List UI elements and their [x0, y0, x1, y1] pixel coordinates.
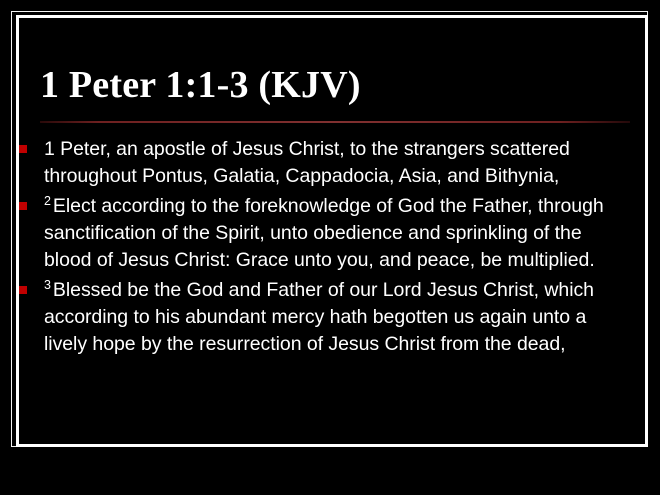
slide-frame-bottom-fade	[0, 449, 660, 495]
square-bullet-icon	[19, 145, 27, 153]
list-item: 2Elect according to the foreknowledge of…	[19, 193, 631, 274]
bullet-text: 3Blessed be the God and Father of our Lo…	[44, 277, 631, 358]
title-divider-rule	[40, 121, 630, 123]
bullet-body: Elect according to the foreknowledge of …	[44, 195, 604, 271]
title-block: 1 Peter 1:1-3 (KJV)	[40, 62, 632, 108]
list-item: 1 Peter, an apostle of Jesus Christ, to …	[19, 136, 631, 190]
presentation-slide: 1 Peter 1:1-3 (KJV) 1 Peter, an apostle …	[0, 0, 660, 495]
verse-number: 2	[44, 194, 53, 208]
bullet-body: Blessed be the God and Father of our Lor…	[44, 279, 594, 355]
bullet-text: 1 Peter, an apostle of Jesus Christ, to …	[44, 136, 631, 190]
scripture-bullet-list: 1 Peter, an apostle of Jesus Christ, to …	[19, 136, 631, 361]
bullet-text: 2Elect according to the foreknowledge of…	[44, 193, 631, 274]
page-title: 1 Peter 1:1-3 (KJV)	[40, 62, 632, 108]
list-item: 3Blessed be the God and Father of our Lo…	[19, 277, 631, 358]
verse-number: 3	[44, 278, 53, 292]
square-bullet-icon	[19, 286, 27, 294]
square-bullet-icon	[19, 202, 27, 210]
